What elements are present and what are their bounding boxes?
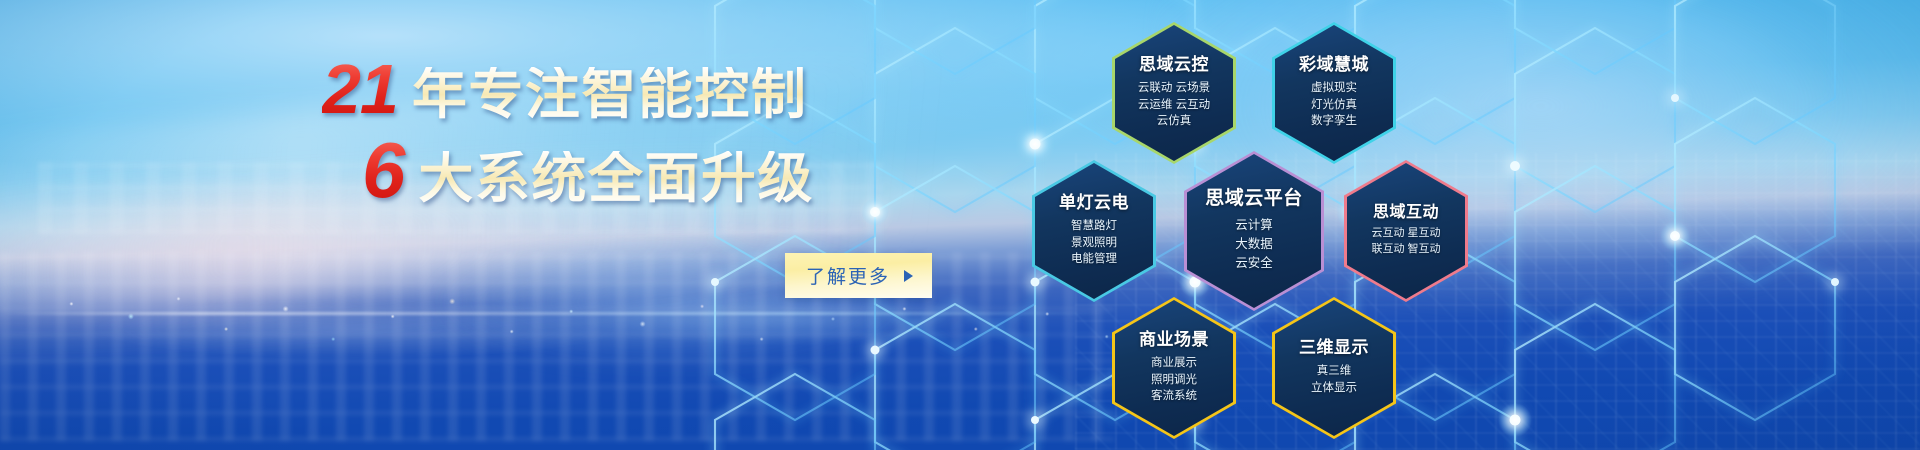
learn-more-label: 了解更多	[806, 262, 890, 289]
hex-subtitle-line: 灯光仿真	[1311, 97, 1357, 114]
hex-title: 商业场景	[1139, 331, 1209, 350]
hex-title: 三维显示	[1299, 339, 1369, 358]
learn-more-button[interactable]: 了解更多	[785, 253, 932, 298]
hex-title: 单灯云电	[1059, 194, 1129, 213]
hex-subtitle-line: 云仿真	[1157, 113, 1192, 130]
headline-block: 21 年专注智能控制 6 大系统全面升级	[318, 58, 918, 206]
hex-subtitle-line: 商业展示	[1151, 355, 1197, 372]
hex-subtitle-line: 云安全	[1235, 254, 1273, 273]
headline-line-2: 6 大系统全面升级	[362, 135, 918, 206]
hex-subtitle-line: 云互动 星互动	[1371, 226, 1440, 242]
hex-subtitle-line: 景观照明	[1071, 235, 1117, 252]
hexagon-diagram: 思域云控 云联动 云场景 云运维 云互动 云仿真 彩域慧城 虚拟现实 灯光仿真 …	[0, 0, 1920, 450]
headline-text-2: 大系统全面升级	[418, 151, 814, 206]
play-triangle-icon	[904, 270, 913, 282]
hex-card-siyu-yunkong[interactable]: 思域云控 云联动 云场景 云运维 云互动 云仿真	[1112, 22, 1236, 164]
hex-subtitle-line: 立体显示	[1311, 380, 1357, 397]
headline-text-1: 年专注智能控制	[412, 67, 808, 122]
headline-number-6: 6	[362, 135, 408, 205]
headline-line-1: 21 年专注智能控制	[322, 58, 918, 122]
headline-number-21: 21	[322, 58, 402, 121]
hex-subtitle-line: 数字孪生	[1311, 113, 1357, 130]
hex-content: 彩域慧城 虚拟现实 灯光仿真 数字孪生	[1272, 22, 1396, 164]
hex-content: 三维显示 真三维 立体显示	[1272, 297, 1396, 439]
hex-card-shangye-changjing[interactable]: 商业场景 商业展示 照明调光 客流系统	[1112, 297, 1236, 439]
hex-subtitle-line: 大数据	[1235, 235, 1273, 254]
hex-content: 思域云控 云联动 云场景 云运维 云互动 云仿真	[1112, 22, 1236, 164]
hex-card-siyu-yunpingtai[interactable]: 思域云平台 云计算 大数据 云安全	[1184, 151, 1324, 311]
hex-subtitle-line: 客流系统	[1151, 388, 1197, 405]
hex-title: 思域云平台	[1205, 189, 1303, 210]
hex-content: 单灯云电 智慧路灯 景观照明 电能管理	[1032, 160, 1156, 302]
hex-content: 思域云平台 云计算 大数据 云安全	[1184, 151, 1324, 311]
hex-subtitle-line: 云计算	[1235, 216, 1273, 235]
hex-card-dandeng-yundian[interactable]: 单灯云电 智慧路灯 景观照明 电能管理	[1032, 160, 1156, 302]
hex-subtitle-line: 智慧路灯	[1071, 218, 1117, 235]
hex-card-sanwei-xianshi[interactable]: 三维显示 真三维 立体显示	[1272, 297, 1396, 439]
hex-title: 思域互动	[1373, 204, 1439, 222]
hex-subtitle-line: 电能管理	[1071, 251, 1117, 268]
hex-card-siyu-hudong[interactable]: 思域互动 云互动 星互动 联互动 智互动	[1344, 160, 1468, 302]
hex-card-caiyu-huicheng[interactable]: 彩域慧城 虚拟现实 灯光仿真 数字孪生	[1272, 22, 1396, 164]
hex-content: 思域互动 云互动 星互动 联互动 智互动	[1344, 160, 1468, 302]
hex-subtitle-line: 虚拟现实	[1311, 80, 1357, 97]
hex-subtitle-line: 云运维 云互动	[1138, 97, 1210, 114]
hex-title: 彩域慧城	[1299, 56, 1369, 75]
hex-title: 思域云控	[1139, 56, 1209, 75]
hex-subtitle-line: 真三维	[1317, 363, 1352, 380]
promo-banner: 21 年专注智能控制 6 大系统全面升级 了解更多 思域云控 云联动 云场景 云…	[0, 0, 1920, 450]
hex-subtitle-line: 照明调光	[1151, 372, 1197, 389]
hex-subtitle-line: 云联动 云场景	[1138, 80, 1210, 97]
hex-subtitle-line: 联互动 智互动	[1371, 242, 1440, 258]
hex-content: 商业场景 商业展示 照明调光 客流系统	[1112, 297, 1236, 439]
